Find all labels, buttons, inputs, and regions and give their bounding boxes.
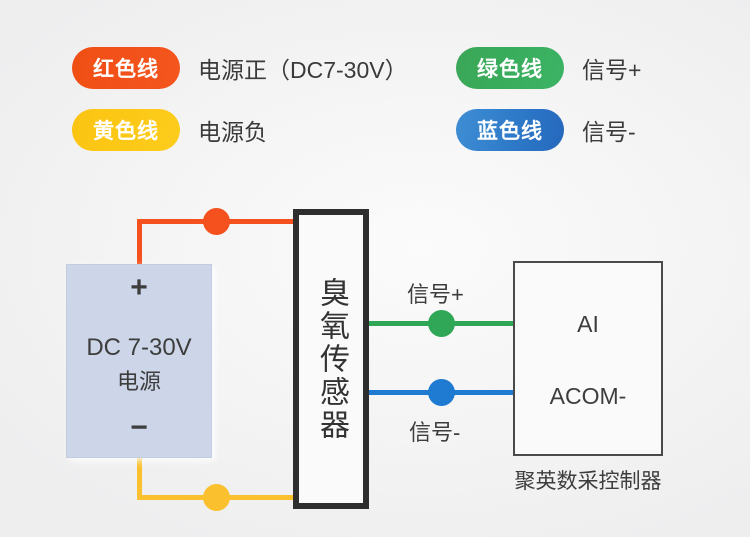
power-supply-plus-terminal: + — [67, 273, 211, 303]
legend-description: 信号+ — [582, 51, 641, 85]
legend-pill-label: 黄色线 — [93, 115, 159, 145]
legend-item-blue: 蓝色线 信号- — [456, 109, 636, 151]
legend-description: 电源正（DC7-30V） — [198, 51, 408, 85]
controller-terminal-acom: ACOM- — [515, 383, 661, 410]
controller-caption: 聚英数采控制器 — [497, 465, 679, 495]
controller-terminal-ai: AI — [515, 311, 661, 338]
power-supply-minus-terminal: − — [67, 413, 211, 443]
ozone-sensor-box: 臭氧传感器 — [293, 209, 369, 509]
legend-item-red: 红色线 电源正（DC7-30V） — [72, 47, 408, 89]
blue-wire-swatch: 蓝色线 — [456, 109, 564, 151]
legend-item-yellow: 黄色线 电源负 — [72, 109, 267, 151]
legend-description: 信号- — [582, 113, 636, 147]
blue-wire-node — [428, 379, 455, 406]
wiring-diagram-page: 红色线 电源正（DC7-30V） 黄色线 电源负 绿色线 信号+ 蓝色线 信号-… — [0, 0, 750, 537]
signal-plus-label: 信号+ — [407, 277, 464, 309]
power-supply-name: 电源 — [67, 365, 211, 399]
legend-item-green: 绿色线 信号+ — [456, 47, 641, 89]
red-wire-node — [203, 208, 230, 235]
yellow-wire-swatch: 黄色线 — [72, 109, 180, 151]
data-acquisition-controller-box: AI ACOM- — [513, 261, 663, 456]
red-power-positive-wire-vertical — [137, 219, 142, 269]
green-wire-node — [428, 310, 455, 337]
signal-minus-label: 信号- — [409, 415, 460, 447]
legend-pill-label: 蓝色线 — [477, 115, 543, 145]
ozone-sensor-label: 臭氧传感器 — [299, 215, 363, 503]
power-supply-voltage: DC 7-30V — [67, 331, 211, 365]
legend-pill-label: 绿色线 — [477, 53, 543, 83]
red-wire-swatch: 红色线 — [72, 47, 180, 89]
yellow-wire-node — [203, 484, 230, 511]
green-wire-swatch: 绿色线 — [456, 47, 564, 89]
legend-description: 电源负 — [198, 113, 267, 147]
power-supply-text: DC 7-30V 电源 — [67, 331, 211, 399]
yellow-power-negative-wire-vertical — [137, 452, 142, 500]
power-supply-box: + DC 7-30V 电源 − — [66, 264, 212, 458]
legend-pill-label: 红色线 — [93, 53, 159, 83]
